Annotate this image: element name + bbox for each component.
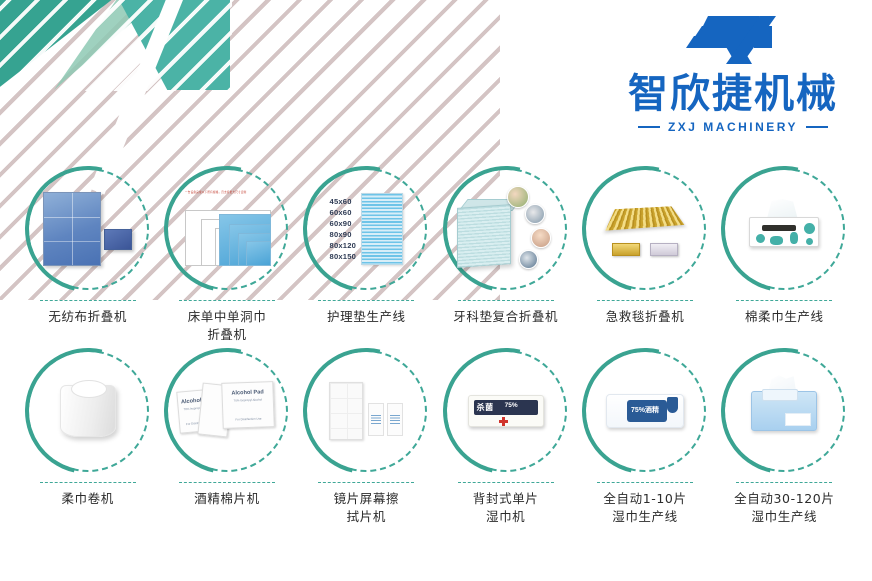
product-caption: 无纺布折叠机 [48,308,127,326]
triangle-teal-block [118,0,230,90]
white-slash [90,0,191,195]
product-image-circle [584,168,706,290]
brand-logo: 智欣捷机械 ZXJ MACHINERY [618,12,848,134]
product-caption: 背封式单片湿巾机 [473,490,539,526]
triangle-dark-teal [0,0,114,90]
product-art-striped-underpad: 45x60 60x60 60x90 80x90 80x120 80x150 [317,180,415,278]
product-art-tissue-box [735,180,833,278]
product-image-circle [723,168,845,290]
product-caption: 全自动1-10片湿巾生产线 [603,490,686,526]
logo-chinese-text: 智欣捷机械 [618,72,848,116]
product-card-soft-towel-roll-machine[interactable]: 柔巾卷机 [18,350,157,526]
size-option: 45x60 [330,196,357,207]
product-grid: 无纺布折叠机 一台设备完成以下所有规格，且支持更大尺寸定制 [18,168,854,527]
product-card-underpad-production-line[interactable]: 45x60 60x60 60x90 80x90 80x120 80x150 护理… [297,168,436,344]
caption-divider [179,300,275,301]
product-caption: 全自动30-120片湿巾生产线 [734,490,834,526]
product-art-dental-bib-stack [457,180,555,278]
triangle-white-stripes [0,0,232,91]
product-card-alcohol-pad-machine[interactable]: Alcohol Pad 70% Isopropyl Alcohol For Di… [157,350,296,526]
product-image-circle: 杀菌 75% [445,350,567,472]
product-image-circle: 一台设备完成以下所有规格，且支持更大尺寸定制 [166,168,288,290]
product-card-bedsheet-drape-folding-machine[interactable]: 一台设备完成以下所有规格，且支持更大尺寸定制 床单中单洞巾折叠机 [157,168,296,344]
product-image-circle [723,350,845,472]
product-image-circle [305,350,427,472]
product-image-circle: 45x60 60x60 60x90 80x90 80x120 80x150 [305,168,427,290]
logo-dash-left [638,126,660,128]
product-image-circle [27,168,149,290]
caption-divider [318,482,414,483]
product-caption: 床单中单洞巾折叠机 [188,308,267,344]
triangle-pale-green [54,0,160,90]
spec-note: 一台设备完成以下所有规格，且支持更大尺寸定制 [185,190,271,194]
product-card-auto-1-10-sheet-wet-wipe-line[interactable]: 75%酒精 全自动1-10片湿巾生产线 [575,350,714,526]
product-caption: 柔巾卷机 [61,490,113,508]
pack-label-percent: 75% [505,402,518,409]
product-art-lens-wipes [317,362,415,460]
product-card-nonwoven-folding-machine[interactable]: 无纺布折叠机 [18,168,157,344]
pack-label-cn: 75%酒精 [631,405,659,415]
size-list: 45x60 60x60 60x90 80x90 80x120 80x150 [330,196,357,262]
size-option: 60x90 [330,218,357,229]
caption-divider [40,482,136,483]
logo-english-row: ZXJ MACHINERY [618,120,848,134]
dental-photo-icon [507,186,529,208]
dental-photo-icon [519,250,538,269]
caption-divider [736,482,832,483]
product-art-alcohol-pads: Alcohol Pad 70% Isopropyl Alcohol For Di… [178,362,276,460]
product-caption: 棉柔巾生产线 [745,308,824,326]
caption-divider [736,300,832,301]
product-caption: 护理垫生产线 [327,308,406,326]
alcohol-pad-subtitle: 70% Isopropyl Alcohol [223,397,273,403]
product-caption: 镜片屏幕擦拭片机 [334,490,400,526]
pack-label-cn: 杀菌 [477,402,494,413]
product-art-light-blue-wipe-pack [735,362,833,460]
product-card-emergency-blanket-folding-machine[interactable]: 急救毯折叠机 [575,168,714,344]
zxj-monogram-icon [618,12,848,70]
product-card-back-seal-single-wet-wipe-machine[interactable]: 杀菌 75% 背封式单片湿巾机 [436,350,575,526]
red-cross-icon [499,417,508,426]
product-art-blue-nonwoven-sheets [39,180,137,278]
product-image-circle [445,168,567,290]
caption-divider [458,482,554,483]
dental-photo-icon [531,228,551,248]
caption-divider [597,482,693,483]
caption-divider [179,482,275,483]
product-caption: 酒精棉片机 [194,490,260,508]
caption-divider [40,300,136,301]
caption-divider [318,300,414,301]
product-card-dental-bib-laminating-folding-machine[interactable]: 牙科垫复合折叠机 [436,168,575,344]
product-card-cotton-soft-towel-production-line[interactable]: 棉柔巾生产线 [715,168,854,344]
product-art-dark-navy-wipe-pack: 杀菌 75% [457,362,555,460]
alcohol-pad-footer: For Disinfection Use [223,416,273,422]
size-option: 60x60 [330,207,357,218]
product-art-nested-blue-sheets: 一台设备完成以下所有规格，且支持更大尺寸定制 [178,180,276,278]
product-art-white-towel-roll [39,362,137,460]
product-caption: 牙科垫复合折叠机 [453,308,558,326]
product-image-circle [27,350,149,472]
product-card-auto-30-120-sheet-wet-wipe-line[interactable]: 全自动30-120片湿巾生产线 [715,350,854,526]
caption-divider [597,300,693,301]
caption-divider [458,300,554,301]
size-option: 80x150 [330,251,357,262]
product-art-white-blue-wipe-pack: 75%酒精 [596,362,694,460]
dental-photo-icon [525,204,545,224]
logo-english-text: ZXJ MACHINERY [668,120,798,134]
product-image-circle: Alcohol Pad 70% Isopropyl Alcohol For Di… [166,350,288,472]
logo-dash-right [806,126,828,128]
product-caption: 急救毯折叠机 [606,308,685,326]
product-image-circle: 75%酒精 [584,350,706,472]
size-option: 80x90 [330,229,357,240]
product-art-gold-emergency-blanket [596,180,694,278]
product-card-lens-screen-wipe-machine[interactable]: 镜片屏幕擦拭片机 [297,350,436,526]
size-option: 80x120 [330,240,357,251]
